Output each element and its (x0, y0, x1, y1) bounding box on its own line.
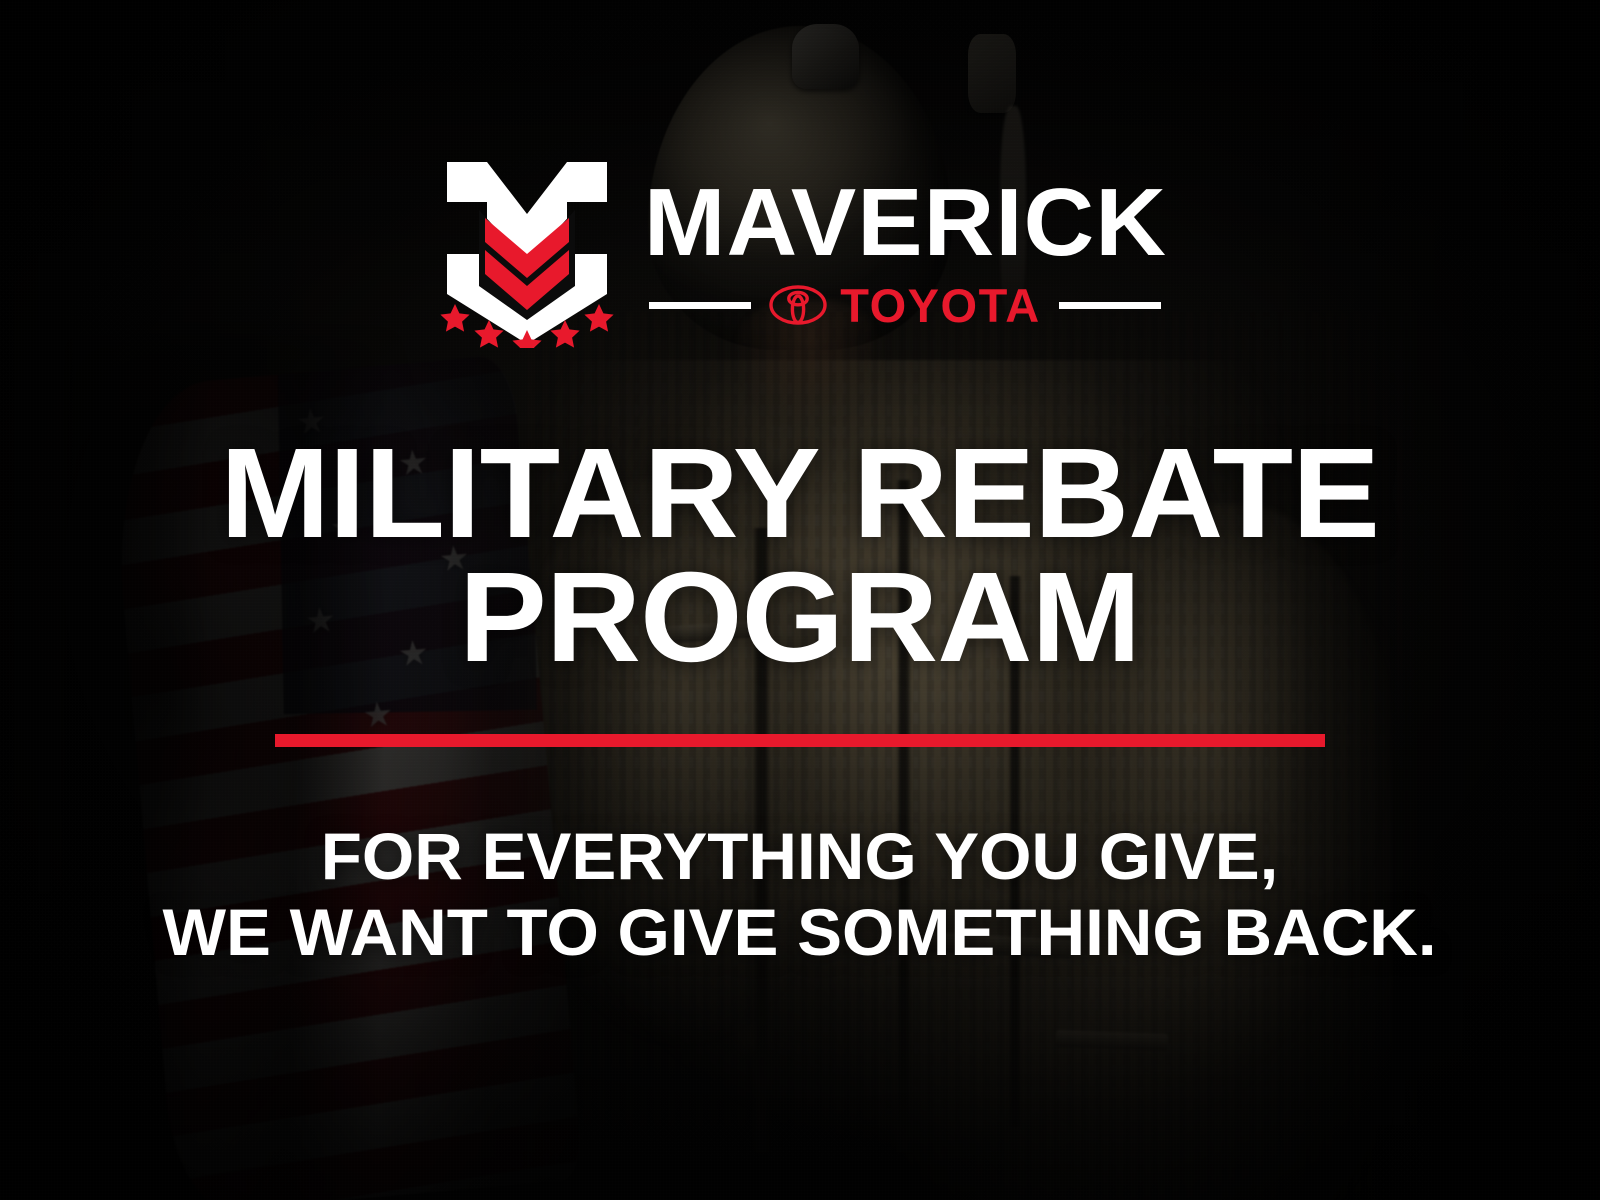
headline-line-1: MILITARY REBATE (221, 432, 1380, 556)
brand-name: MAVERICK (643, 177, 1166, 269)
toyota-sub-lockup: TOYOTA (649, 282, 1162, 329)
maverick-chevron-badge-icon (439, 158, 615, 348)
red-divider (275, 734, 1325, 747)
page-title: MILITARY REBATE PROGRAM (221, 432, 1380, 680)
tagline-line-1: FOR EVERYTHING YOU GIVE, (163, 819, 1437, 894)
toyota-lockup: TOYOTA (769, 282, 1041, 329)
rule-right (1059, 302, 1162, 309)
tagline: FOR EVERYTHING YOU GIVE, WE WANT TO GIVE… (163, 819, 1437, 969)
rule-left (649, 302, 752, 309)
military-rebate-banner: ★ ★ ★ ★ ★ ★ ★ (0, 0, 1600, 1200)
headline-line-2: PROGRAM (221, 556, 1380, 680)
toyota-ellipse-logo-icon (769, 285, 827, 325)
tagline-line-2: WE WANT TO GIVE SOMETHING BACK. (163, 895, 1437, 970)
banner-content: MAVERICK T (0, 0, 1600, 1200)
maverick-toyota-logo[interactable]: MAVERICK T (439, 158, 1162, 348)
toyota-wordmark: TOYOTA (840, 282, 1041, 329)
maverick-wordmark: MAVERICK T (649, 177, 1162, 328)
